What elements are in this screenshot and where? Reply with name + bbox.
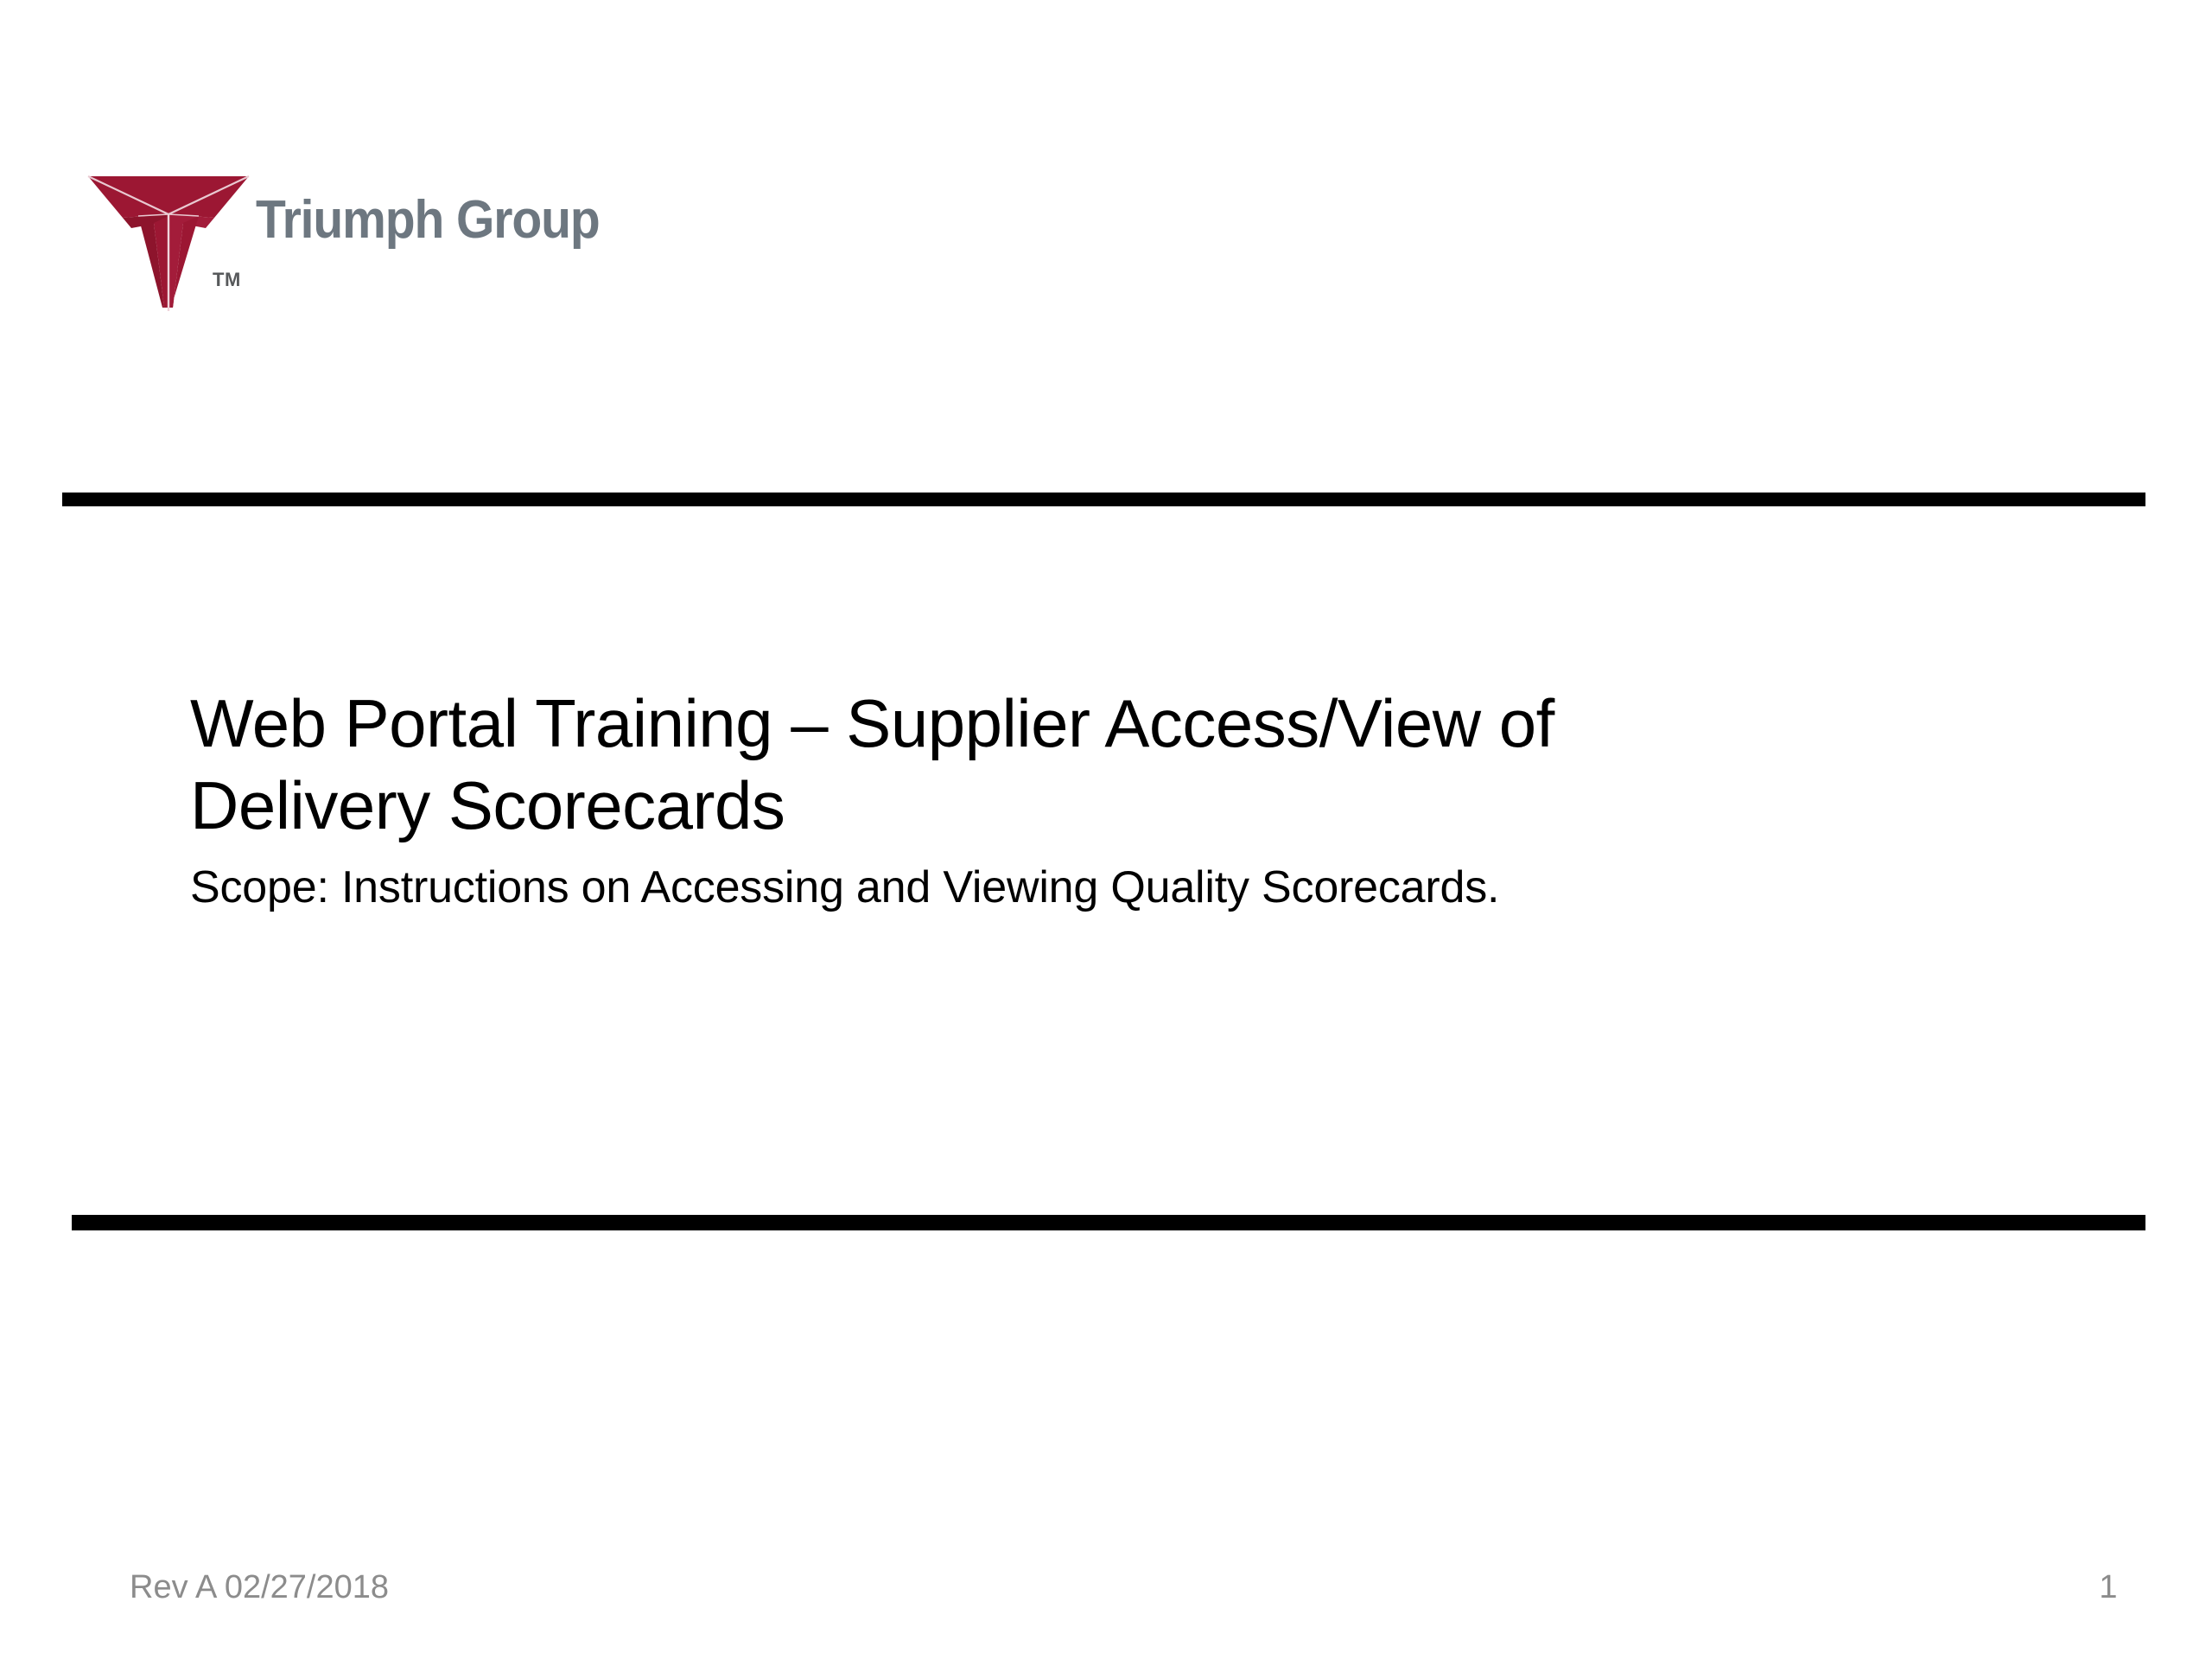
page-title-line-2: Delivery Scorecards xyxy=(190,767,785,843)
footer-page-number: 1 xyxy=(2074,1571,2143,1604)
bottom-divider xyxy=(72,1215,2145,1230)
trademark-symbol: TM xyxy=(213,270,241,289)
footer-revision: Rev A 02/27/2018 xyxy=(130,1571,389,1604)
title-block: Web Portal Training – Supplier Access/Vi… xyxy=(190,683,1970,917)
page-title: Web Portal Training – Supplier Access/Vi… xyxy=(190,683,1970,847)
page-subtitle: Scope: Instructions on Accessing and Vie… xyxy=(190,859,1970,917)
logo-wordmark: Triumph Group xyxy=(256,194,600,247)
page-title-line-1: Web Portal Training – Supplier Access/Vi… xyxy=(190,685,1554,761)
title-slide: TM Triumph Group Web Portal Training – S… xyxy=(0,0,2212,1659)
top-divider xyxy=(62,493,2145,506)
triumph-group-logo: TM Triumph Group xyxy=(86,147,622,320)
